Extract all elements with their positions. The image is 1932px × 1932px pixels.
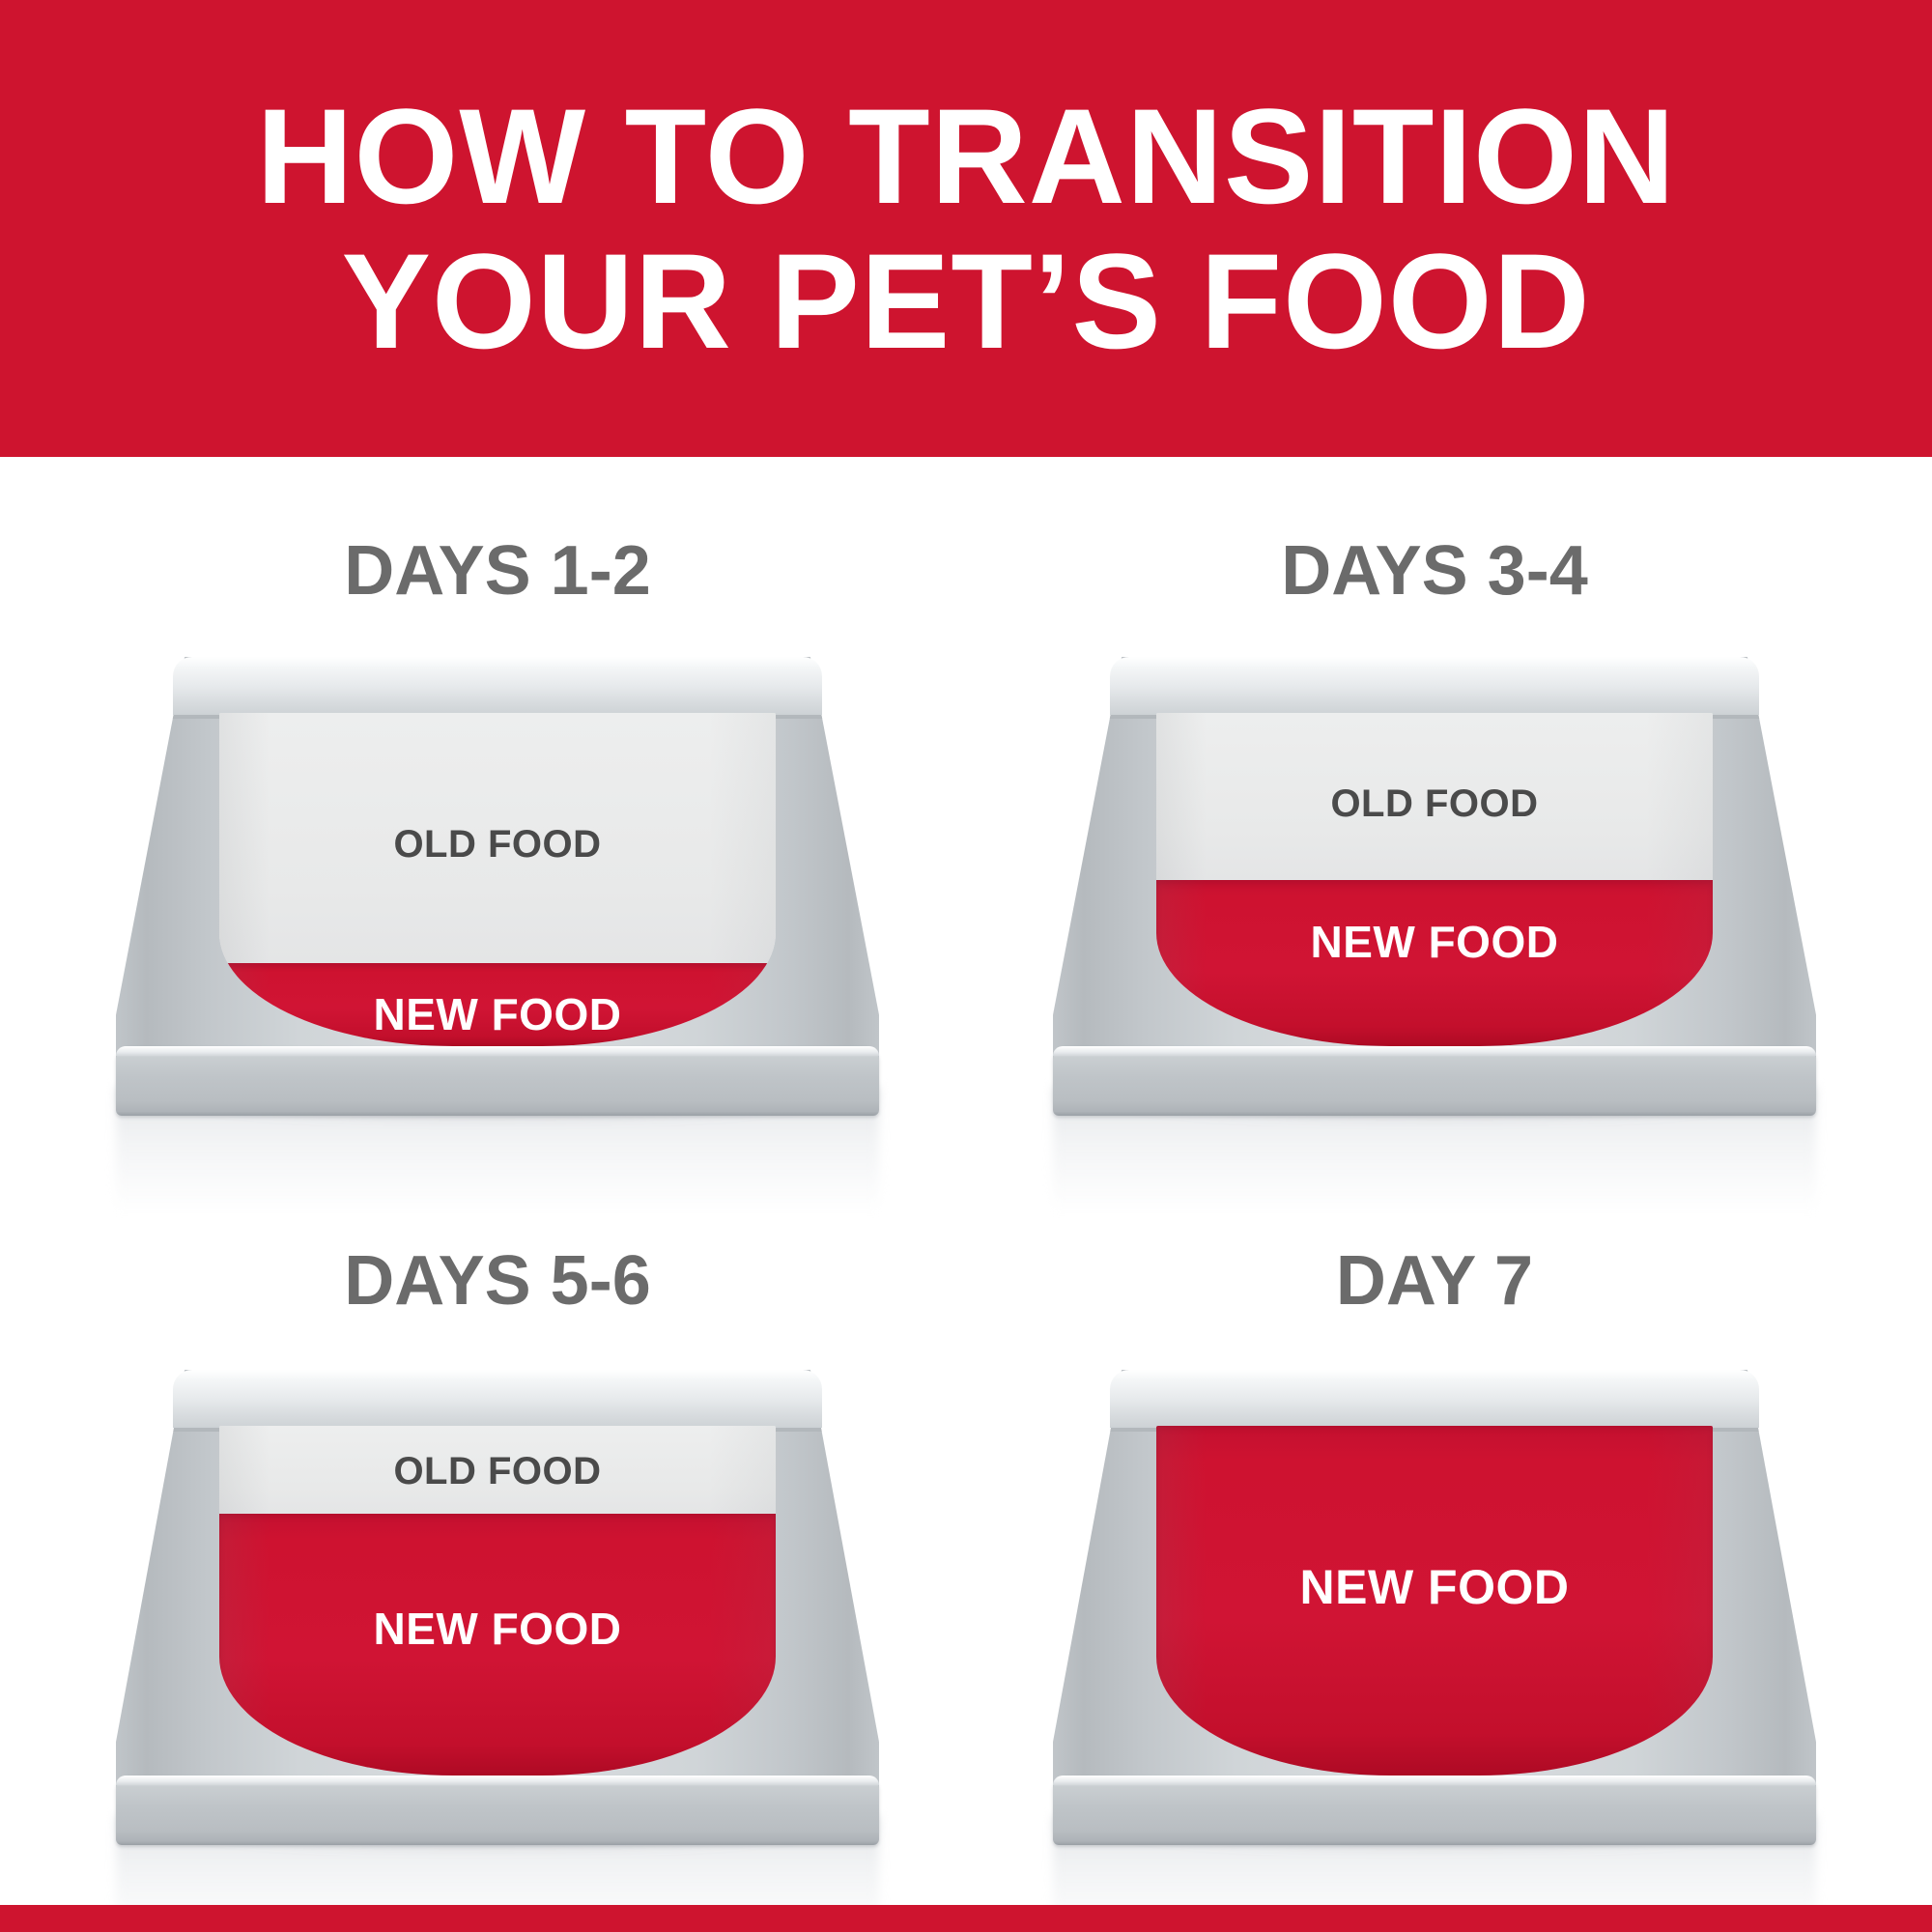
- old-food-label-3: OLD FOOD: [219, 1450, 777, 1493]
- day-label-3: DAYS 5-6: [116, 1246, 879, 1316]
- bowl-rim-2: [1110, 657, 1759, 715]
- new-food-label-3: NEW FOOD: [219, 1603, 777, 1655]
- bowl-base-2: [1053, 1046, 1816, 1116]
- day-label-1: DAYS 1-2: [116, 536, 879, 606]
- infographic-page: HOW TO TRANSITION YOUR PET’S FOOD DAYS 1…: [0, 0, 1932, 1932]
- page-title-line-2: YOUR PET’S FOOD: [341, 229, 1590, 374]
- bowl-base-3: [116, 1776, 879, 1845]
- bowl-contents-1: OLD FOOD NEW FOOD: [219, 713, 777, 1046]
- bowl-contents-3: OLD FOOD NEW FOOD: [219, 1426, 777, 1776]
- header-banner: HOW TO TRANSITION YOUR PET’S FOOD: [0, 0, 1932, 457]
- bowl-rim-4: [1110, 1370, 1759, 1428]
- bowl-graphic-2: OLD FOOD NEW FOOD: [1053, 657, 1816, 1116]
- old-food-fill-1: OLD FOOD: [219, 713, 777, 963]
- new-food-fill-2: NEW FOOD: [1156, 880, 1714, 1047]
- panel-days-3-4: DAYS 3-4 OLD FOOD NEW FOOD: [1053, 536, 1816, 1116]
- footer-bar: [0, 1905, 1932, 1932]
- bowl-base-highlight-3: [116, 1776, 879, 1785]
- bowl-base-highlight-4: [1053, 1776, 1816, 1785]
- new-food-label-1: NEW FOOD: [219, 988, 777, 1040]
- new-food-fill-4: NEW FOOD: [1156, 1426, 1714, 1776]
- page-title-line-1: HOW TO TRANSITION: [256, 84, 1676, 229]
- panel-days-5-6: DAYS 5-6 OLD FOOD NEW FOOD: [116, 1246, 879, 1845]
- bowl-rim-3: [173, 1370, 822, 1428]
- bowl-base-1: [116, 1046, 879, 1116]
- bowl-base-highlight-2: [1053, 1046, 1816, 1056]
- bowl-graphic-3: OLD FOOD NEW FOOD: [116, 1370, 879, 1845]
- bowl-graphic-1: OLD FOOD NEW FOOD: [116, 657, 879, 1116]
- bowl-graphic-4: OLD FOOD NEW FOOD: [1053, 1370, 1816, 1845]
- panel-day-7: DAY 7 OLD FOOD NEW FOOD: [1053, 1246, 1816, 1845]
- bowl-base-highlight-1: [116, 1046, 879, 1056]
- bowl-contents-2: OLD FOOD NEW FOOD: [1156, 713, 1714, 1046]
- new-food-label-2: NEW FOOD: [1156, 916, 1714, 968]
- bowl-rim-1: [173, 657, 822, 715]
- day-label-2: DAYS 3-4: [1053, 536, 1816, 606]
- bowl-base-4: [1053, 1776, 1816, 1845]
- new-food-fill-1: NEW FOOD: [219, 963, 777, 1046]
- panel-days-1-2: DAYS 1-2 OLD FOOD NEW FOOD: [116, 536, 879, 1116]
- bowl-contents-4: OLD FOOD NEW FOOD: [1156, 1426, 1714, 1776]
- day-label-4: DAY 7: [1053, 1246, 1816, 1316]
- new-food-fill-3: NEW FOOD: [219, 1514, 777, 1776]
- old-food-fill-2: OLD FOOD: [1156, 713, 1714, 880]
- old-food-fill-3: OLD FOOD: [219, 1426, 777, 1514]
- new-food-label-4: NEW FOOD: [1156, 1559, 1714, 1615]
- old-food-label-2: OLD FOOD: [1156, 782, 1714, 826]
- old-food-label-1: OLD FOOD: [219, 823, 777, 867]
